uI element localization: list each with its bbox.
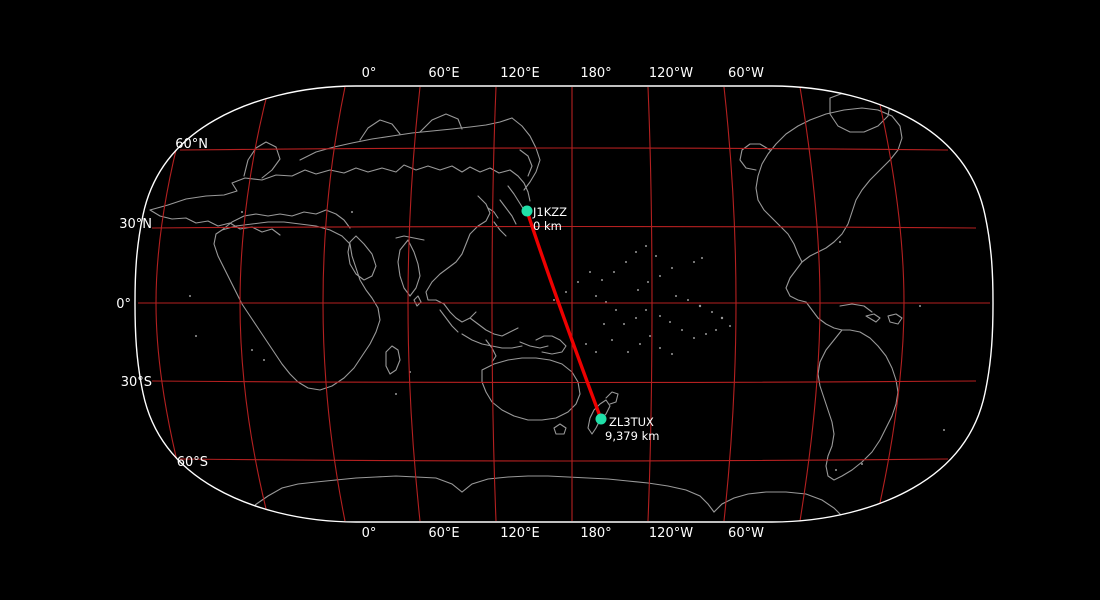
- station-marker-origin[interactable]: [522, 206, 533, 217]
- lon-label-top-2: 120°E: [500, 66, 540, 81]
- lon-label-bottom-0: 0°: [362, 526, 377, 541]
- station-distance-origin: 0 km: [533, 219, 562, 233]
- lon-label-top-1: 60°E: [428, 66, 459, 81]
- lon-label-top-0: 0°: [362, 66, 377, 81]
- station-callsign-destination: ZL3TUX: [609, 415, 654, 429]
- lat-label-30s: 30°S: [121, 375, 152, 390]
- station-callsign-origin: J1KZZ: [532, 205, 567, 219]
- lat-label-60s: 60°S: [177, 455, 208, 470]
- map-background: [0, 0, 1100, 600]
- lat-label-30n: 30°N: [119, 217, 152, 232]
- map-canvas: Robinson Projection PM95 to RE66HO (156°…: [0, 0, 1100, 600]
- lon-label-bottom-1: 60°E: [428, 526, 459, 541]
- lon-label-bottom-2: 120°E: [500, 526, 540, 541]
- lon-label-top-3: 180°: [580, 66, 611, 81]
- lon-label-top-4: 120°W: [649, 66, 693, 81]
- lon-label-bottom-4: 120°W: [649, 526, 693, 541]
- lat-label-60n: 60°N: [175, 137, 208, 152]
- station-distance-destination: 9,379 km: [605, 429, 659, 443]
- robinson-projection-map: J1KZZ 0 km ZL3TUX 9,379 km 0° 60°E 120°E…: [0, 0, 1100, 600]
- station-marker-destination[interactable]: [596, 414, 607, 425]
- lon-label-bottom-3: 180°: [580, 526, 611, 541]
- lat-label-0: 0°: [116, 297, 131, 312]
- lon-label-bottom-5: 60°W: [728, 526, 764, 541]
- lon-label-top-5: 60°W: [728, 66, 764, 81]
